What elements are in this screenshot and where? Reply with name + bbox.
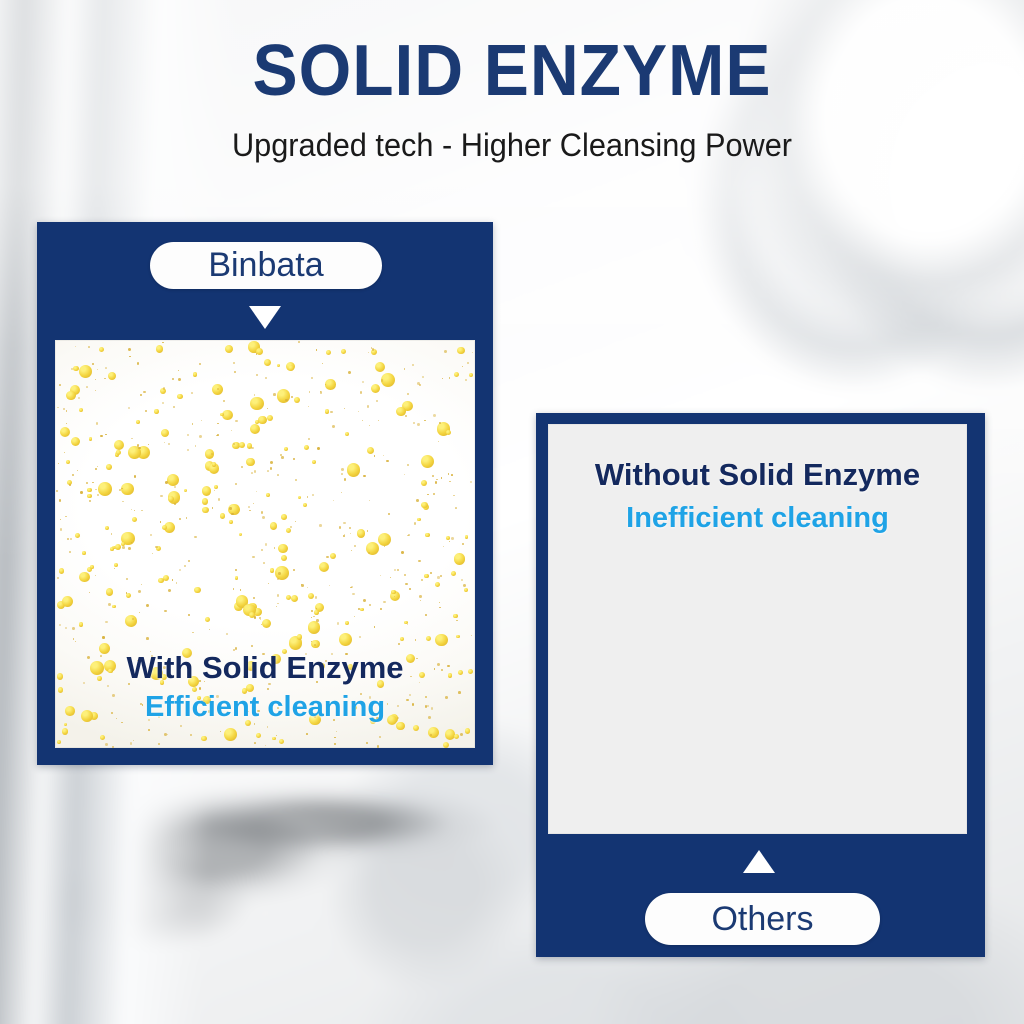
right-caption-subtitle: Inefficient cleaning — [548, 502, 967, 535]
brand-pill-others-label: Others — [711, 900, 813, 939]
triangle-up-icon — [743, 850, 775, 873]
page-title: SOLID ENZYME — [31, 30, 994, 112]
right-caption-title: Without Solid Enzyme — [548, 457, 967, 493]
triangle-down-icon — [249, 306, 281, 329]
left-caption-subtitle: Efficient cleaning — [55, 691, 475, 724]
left-caption-title: With Solid Enzyme — [55, 650, 475, 686]
right-comparison-panel: Without Solid Enzyme Inefficient cleanin… — [536, 413, 985, 957]
enzyme-bubbles-overlay — [55, 340, 475, 748]
left-comparison-panel: Binbata With Solid Enzyme Efficient clea… — [37, 222, 493, 765]
without-enzyme-photo: Without Solid Enzyme Inefficient cleanin… — [548, 424, 967, 834]
product-comparison-poster: SOLID ENZYME Upgraded tech - Higher Clea… — [0, 0, 1024, 1024]
with-enzyme-photo: With Solid Enzyme Efficient cleaning — [55, 340, 475, 748]
brand-pill-binbata-label: Binbata — [208, 246, 323, 285]
brand-pill-binbata: Binbata — [150, 242, 382, 289]
page-subtitle: Upgraded tech - Higher Cleansing Power — [20, 127, 1003, 164]
brand-pill-others: Others — [645, 893, 880, 945]
